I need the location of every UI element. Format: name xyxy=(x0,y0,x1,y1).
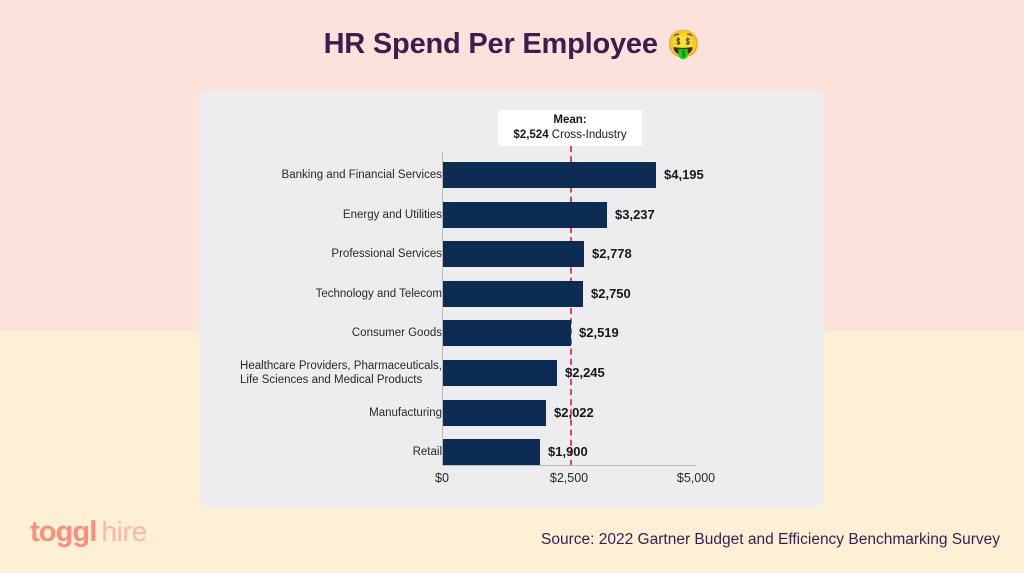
money-mouth-face-icon: 🤑 xyxy=(667,29,701,59)
bar[interactable] xyxy=(443,360,557,386)
category-label: Professional Services xyxy=(331,247,442,261)
mean-callout-box: Mean: $2,524 Cross-Industry xyxy=(498,110,642,146)
bar-value-label: $1,900 xyxy=(548,439,588,465)
bar-value-label: $3,237 xyxy=(615,202,655,228)
x-tick-label: $2,500 xyxy=(550,471,588,485)
bar-row: $4,195 xyxy=(443,162,697,188)
mean-callout-label: Mean: xyxy=(498,113,642,128)
bar-row: $2,022 xyxy=(443,400,697,426)
mean-callout-suffix: Cross-Industry xyxy=(549,129,627,141)
category-label: Technology and Telecom xyxy=(316,287,442,301)
infographic-canvas: HR Spend Per Employee🤑 Mean: $2,524 Cros… xyxy=(0,0,1024,573)
plot-area: $4,195$3,237$2,778$2,750$2,519$2,245$2,0… xyxy=(442,152,696,466)
page-title-text: HR Spend Per Employee xyxy=(324,28,658,60)
mean-callout-value-row: $2,524 Cross-Industry xyxy=(498,128,642,143)
bar[interactable] xyxy=(443,281,583,307)
bar-value-label: $4,195 xyxy=(664,162,704,188)
category-label: Consumer Goods xyxy=(352,326,442,340)
bar-row: $2,778 xyxy=(443,241,697,267)
mean-callout-value: $2,524 xyxy=(513,129,548,141)
category-axis-labels: Banking and Financial ServicesEnergy and… xyxy=(213,152,442,466)
bar-value-label: $2,022 xyxy=(554,400,594,426)
bar[interactable] xyxy=(443,202,607,228)
bar[interactable] xyxy=(443,320,571,346)
x-tick-label: $5,000 xyxy=(677,471,715,485)
x-tick-label: $0 xyxy=(435,471,449,485)
bar[interactable] xyxy=(443,439,540,465)
source-attribution: Source: 2022 Gartner Budget and Efficien… xyxy=(541,531,1000,549)
bar-value-label: $2,245 xyxy=(565,360,605,386)
bar[interactable] xyxy=(443,241,584,267)
category-label: Banking and Financial Services xyxy=(282,168,442,182)
bar-row: $1,900 xyxy=(443,439,697,465)
bar-value-label: $2,519 xyxy=(579,320,619,346)
bar-row: $3,237 xyxy=(443,202,697,228)
bar-value-label: $2,778 xyxy=(592,241,632,267)
page-title: HR Spend Per Employee🤑 xyxy=(0,28,1024,61)
logo-secondary-text: hire xyxy=(101,516,147,547)
bar-value-label: $2,750 xyxy=(591,281,631,307)
logo-primary-text: toggl xyxy=(30,516,96,548)
bar[interactable] xyxy=(443,162,656,188)
bar[interactable] xyxy=(443,400,546,426)
toggl-hire-logo[interactable]: togglhire xyxy=(30,518,147,547)
category-label: Retail xyxy=(413,445,442,459)
bar-row: $2,245 xyxy=(443,360,697,386)
bar-row: $2,750 xyxy=(443,281,697,307)
category-label: Energy and Utilities xyxy=(343,208,442,222)
x-axis-tick-labels: $0$2,500$5,000 xyxy=(442,471,696,491)
chart-panel: Mean: $2,524 Cross-Industry Banking and … xyxy=(199,90,824,508)
category-label: Manufacturing xyxy=(369,406,442,420)
category-label: Healthcare Providers, Pharmaceuticals,Li… xyxy=(240,359,442,387)
bar-row: $2,519 xyxy=(443,320,697,346)
